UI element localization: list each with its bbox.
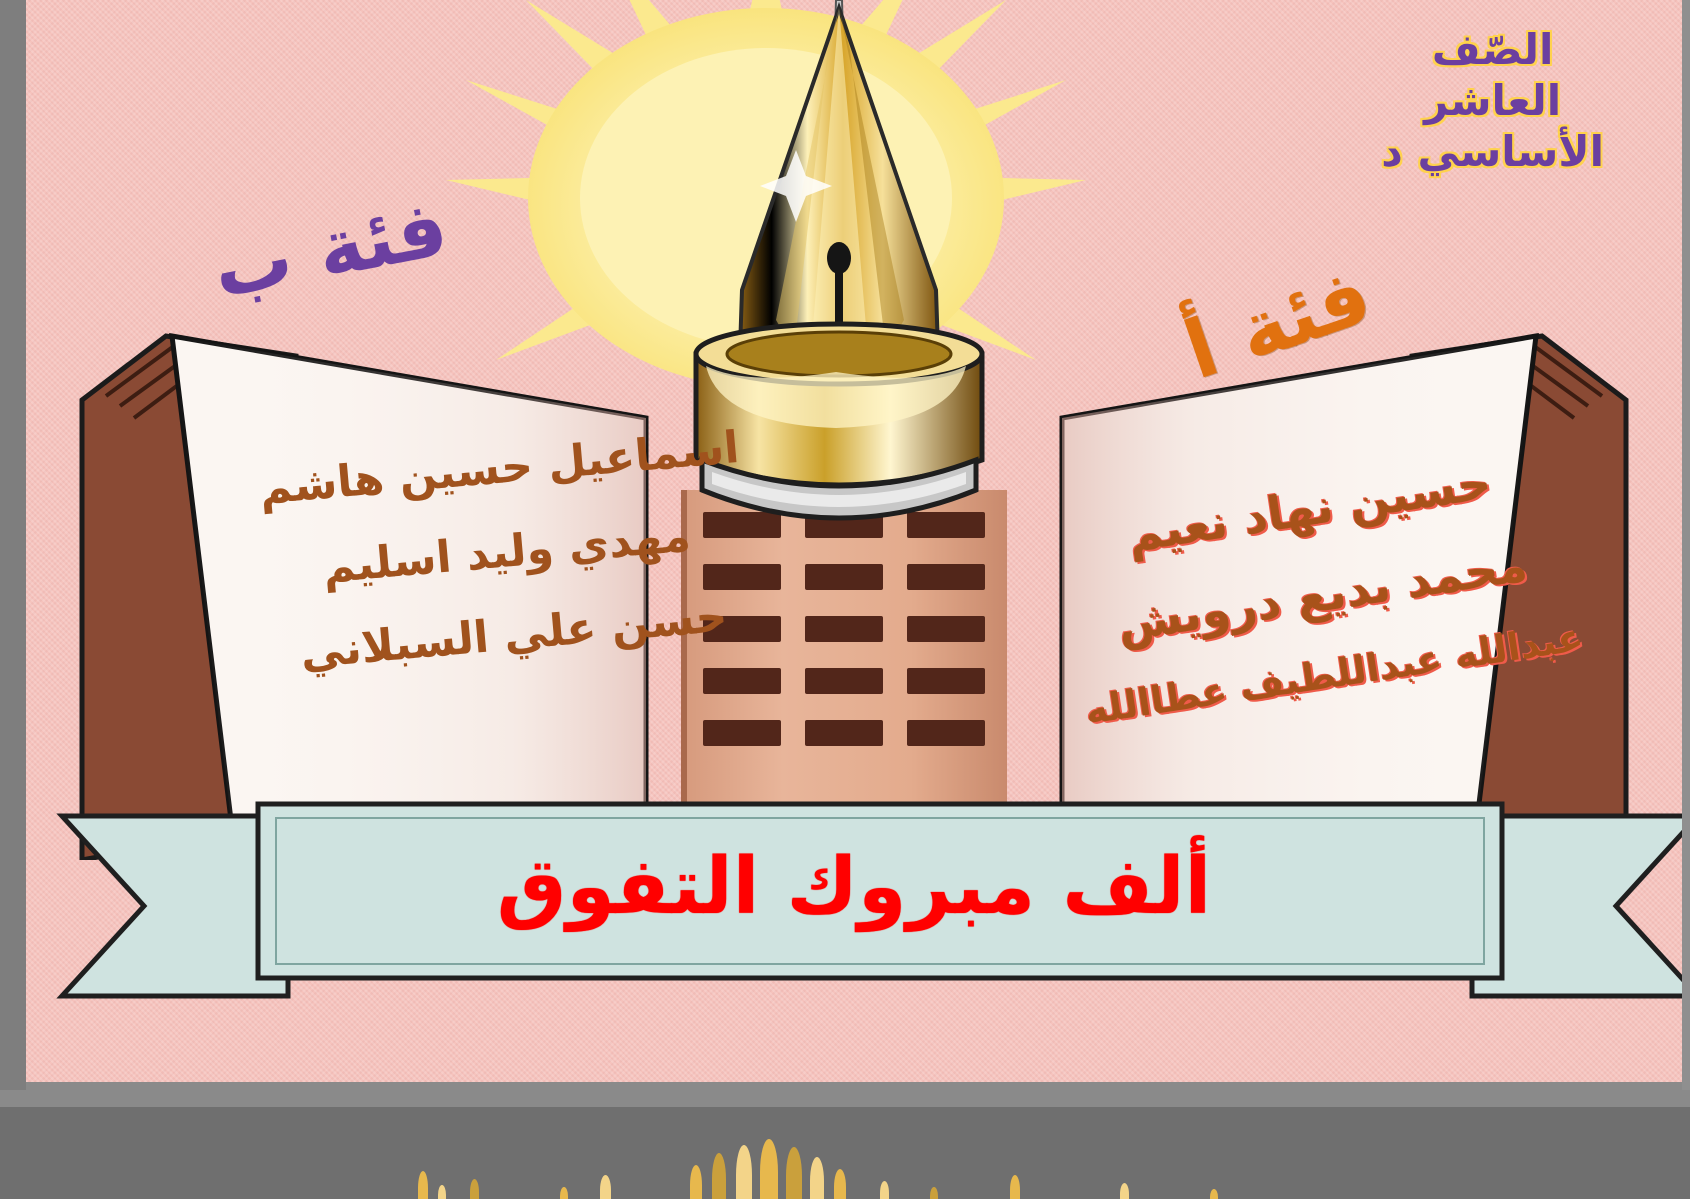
left-frame-rail: [0, 0, 26, 1090]
grade-label: الصّف العاشر الأساسي د: [1381, 24, 1604, 178]
grade-line-2: العاشر: [1381, 75, 1604, 126]
poster-card: الصّف العاشر الأساسي د فئة ب فئة أ حسين …: [26, 0, 1682, 1082]
fountain-pen-nib-icon: [636, 0, 1056, 810]
right-frame-rail: [1682, 0, 1690, 1090]
names-list-left-page: اسماعيل حسين هاشم مهدي وليد اسليم حسن عل…: [256, 406, 757, 698]
category-b-label: فئة ب: [206, 183, 455, 316]
grade-line-1: الصّف: [1381, 24, 1604, 75]
bottom-sparkle-strip: [0, 1107, 1690, 1199]
grade-line-3: الأساسي د: [1381, 126, 1604, 177]
congratulations-text: ألف مبروك التفوق: [26, 842, 1682, 932]
poster-canvas: الصّف العاشر الأساسي د فئة ب فئة أ حسين …: [0, 0, 1690, 1199]
